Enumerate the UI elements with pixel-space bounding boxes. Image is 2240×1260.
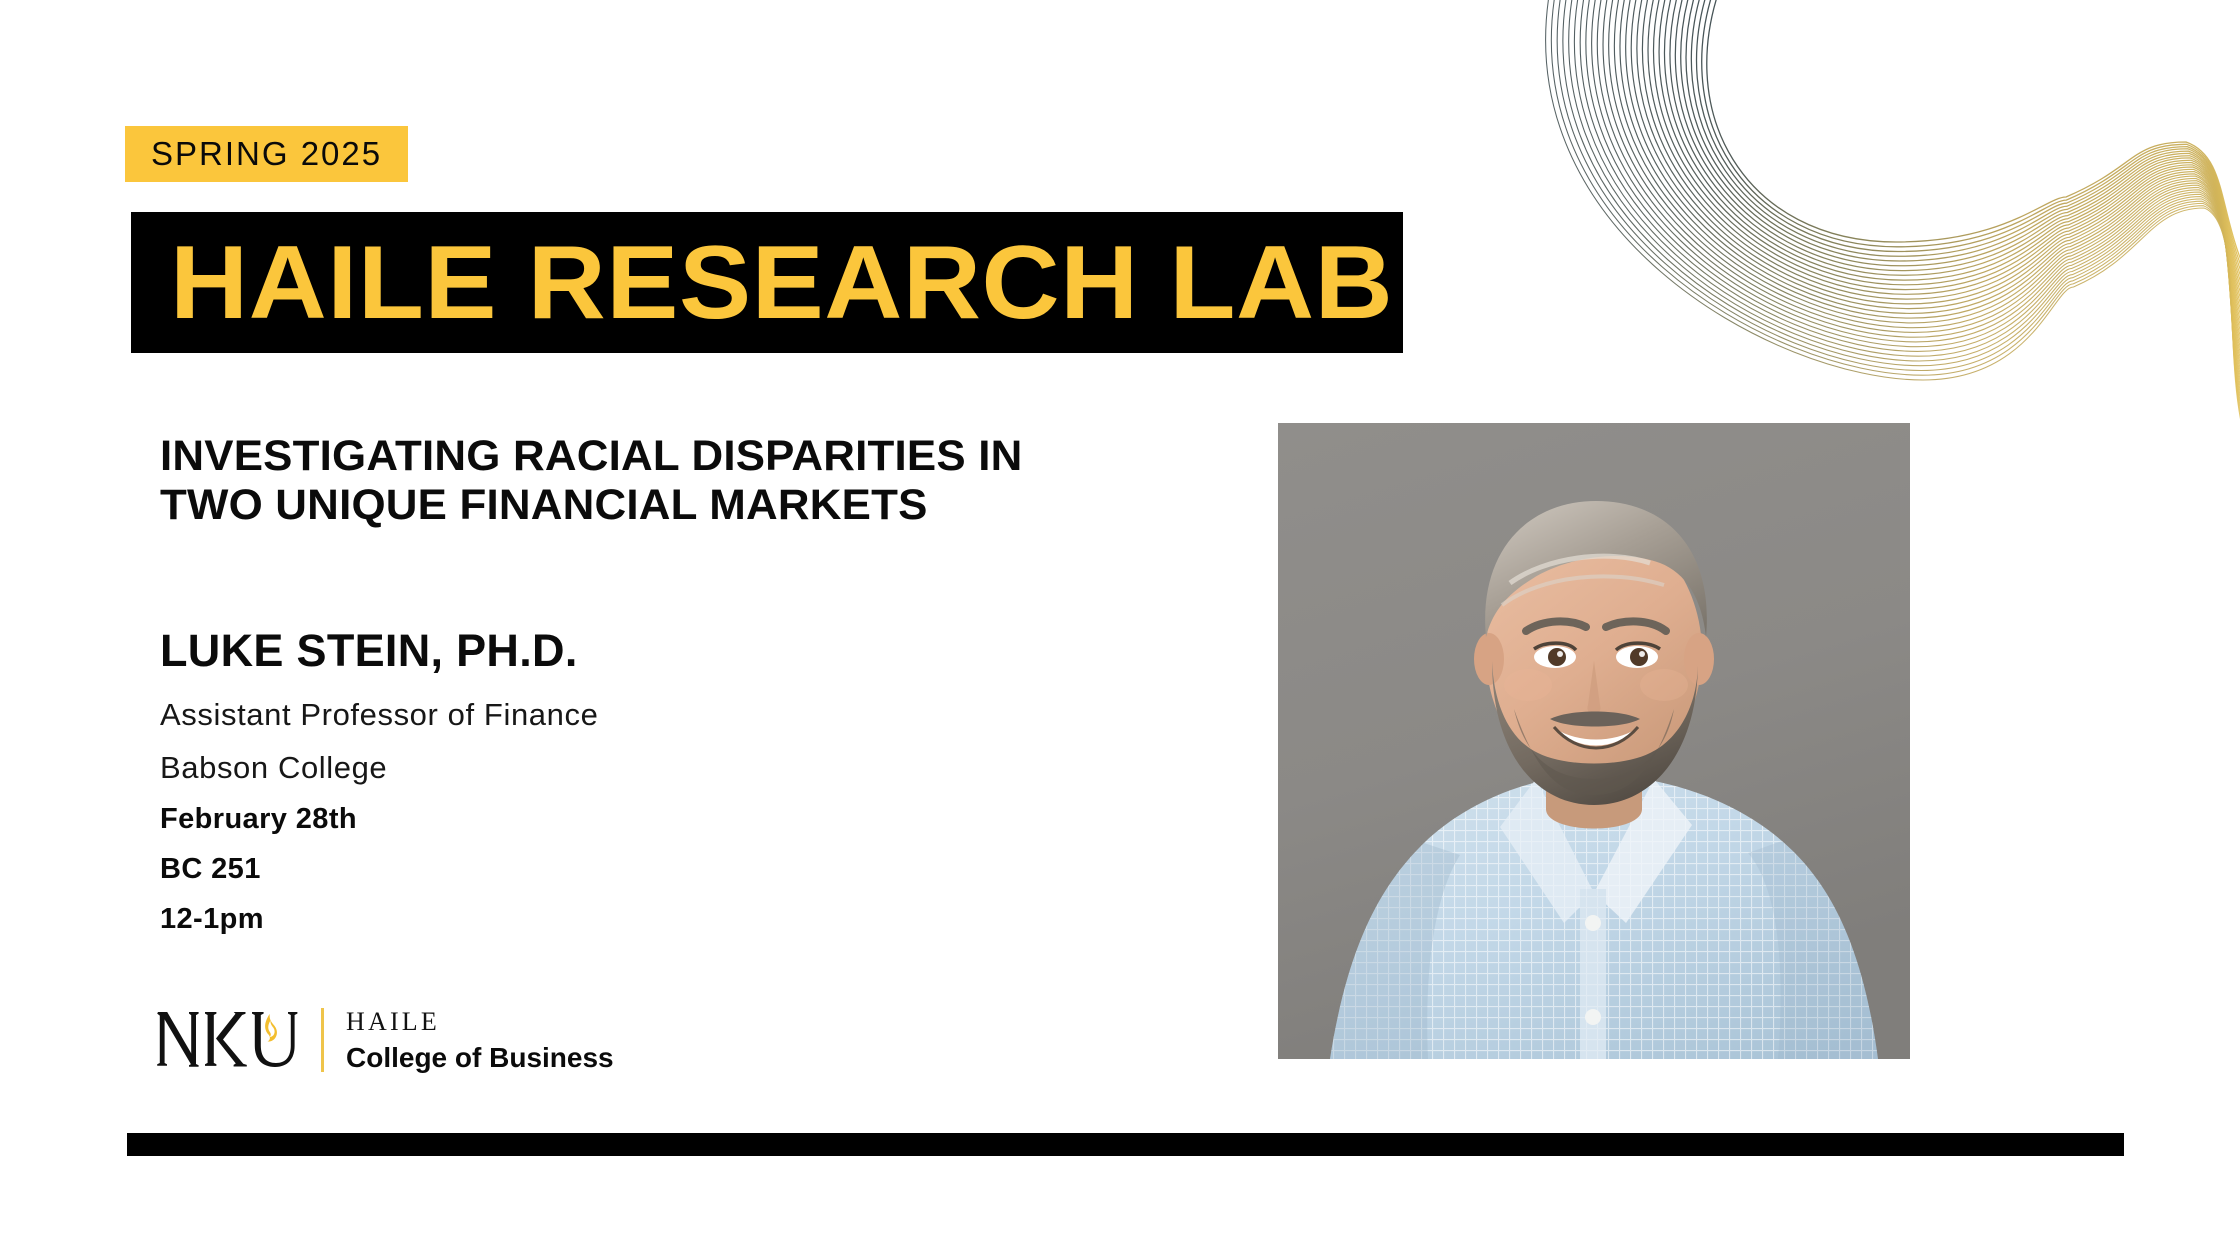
bottom-rule [127, 1133, 2124, 1156]
logo-divider [321, 1008, 324, 1072]
nku-haile-logo-lockup: HAILE College of Business [155, 1000, 614, 1080]
page-title: HAILE RESEARCH LAB [170, 231, 1393, 335]
speaker-affiliation: Babson College [160, 752, 1230, 783]
speaker-portrait-photo [1278, 423, 1910, 1059]
season-badge-label: SPRING 2025 [151, 137, 382, 170]
speaker-name: LUKE STEIN, PH.D. [160, 628, 1230, 673]
talk-title-line-1: INVESTIGATING RACIAL DISPARITIES IN [160, 432, 1251, 481]
speaker-role: Assistant Professor of Finance [160, 699, 1230, 730]
event-flyer-poster: SPRING 2025 HAILE RESEARCH LAB INVESTIGA… [0, 0, 2240, 1260]
event-date: February 28th [160, 805, 1230, 834]
season-badge: SPRING 2025 [125, 126, 408, 182]
logo-college-word: College of Business [346, 1044, 614, 1072]
talk-title: INVESTIGATING RACIAL DISPARITIES IN TWO … [160, 432, 1230, 530]
event-location: BC 251 [160, 855, 1230, 884]
event-time: 12-1pm [160, 905, 1230, 934]
speaker-info-block: LUKE STEIN, PH.D. Assistant Professor of… [160, 628, 1230, 955]
nku-wordmark-icon [155, 1002, 303, 1078]
talk-title-line-2: TWO UNIQUE FINANCIAL MARKETS [160, 481, 1251, 530]
flame-icon [265, 1014, 277, 1042]
wavy-concentric-lines-decoration [1426, 0, 2240, 462]
title-banner: HAILE RESEARCH LAB [131, 212, 1403, 353]
logo-haile-word: HAILE [346, 1009, 614, 1035]
